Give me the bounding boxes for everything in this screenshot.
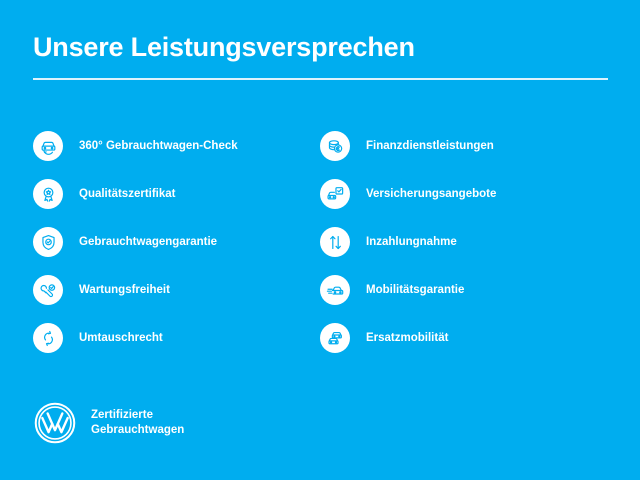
promises-column-left: 360° Gebrauchtwagen-Check Qualitätszerti… [33,122,320,362]
promises-column-right: Finanzdienstleistungen Versicherungsange… [320,122,607,362]
promise-label: Wartungsfreiheit [79,283,170,297]
coins-euro-icon [320,131,350,161]
promise-label: Ersatzmobilität [366,331,448,345]
promise-label: Mobilitätsgarantie [366,283,464,297]
promise-item[interactable]: Gebrauchtwagengarantie [33,218,320,266]
header: Unsere Leistungsversprechen [33,30,608,80]
footer-line-2: Gebrauchtwagen [91,423,184,438]
header-divider [33,78,608,80]
two-cars-icon [320,323,350,353]
promise-label: Inzahlungnahme [366,235,457,249]
promise-label: Umtauschrecht [79,331,163,345]
wrench-check-icon [33,275,63,305]
promise-item[interactable]: Wartungsfreiheit [33,266,320,314]
promise-item[interactable]: Qualitätszertifikat [33,170,320,218]
promise-item[interactable]: Umtauschrecht [33,314,320,362]
promise-label: 360° Gebrauchtwagen-Check [79,139,238,153]
award-rosette-icon [33,179,63,209]
page-title: Unsere Leistungsversprechen [33,30,608,64]
promise-item[interactable]: Finanzdienstleistungen [320,122,607,170]
car-360-check-icon [33,131,63,161]
promise-label: Versicherungsangebote [366,187,496,201]
promise-item[interactable]: Mobilitätsgarantie [320,266,607,314]
footer-line-1: Zertifizierte [91,408,184,423]
promise-item[interactable]: Ersatzmobilität [320,314,607,362]
promise-item[interactable]: 360° Gebrauchtwagen-Check [33,122,320,170]
car-motion-icon [320,275,350,305]
promise-label: Finanzdienstleistungen [366,139,494,153]
car-document-check-icon [320,179,350,209]
arrows-up-down-icon [320,227,350,257]
promise-item[interactable]: Versicherungsangebote [320,170,607,218]
promise-label: Qualitätszertifikat [79,187,176,201]
footer-logo-lockup: Zertifizierte Gebrauchtwagen [33,401,184,445]
exchange-arrows-icon [33,323,63,353]
promise-item[interactable]: Inzahlungnahme [320,218,607,266]
footer-text: Zertifizierte Gebrauchtwagen [91,408,184,438]
promise-label: Gebrauchtwagengarantie [79,235,217,249]
slide-root: Unsere Leistungsversprechen 360° Gebrauc [0,0,640,480]
promises-grid: 360° Gebrauchtwagen-Check Qualitätszerti… [33,122,608,362]
shield-check-icon [33,227,63,257]
volkswagen-logo [33,401,77,445]
